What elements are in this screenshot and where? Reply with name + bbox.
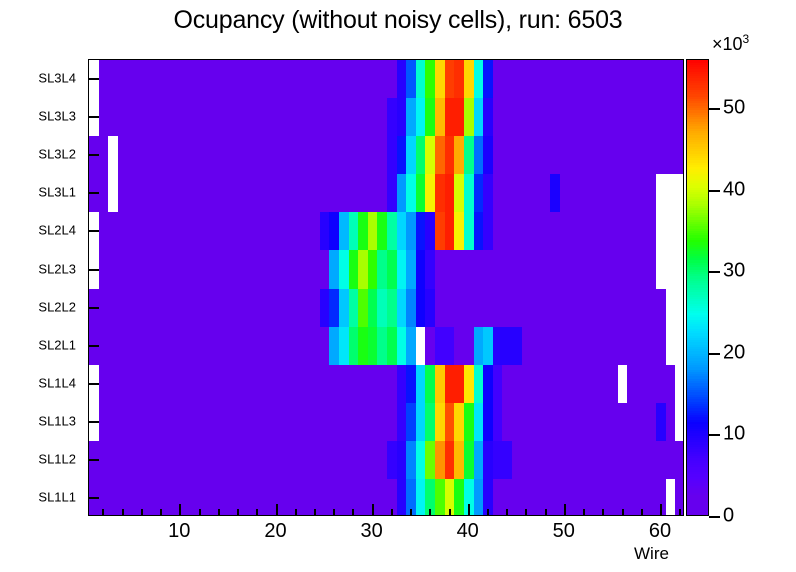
x-tick-label: 10 xyxy=(168,520,190,543)
colorbar-band xyxy=(687,162,708,165)
y-tick-label: SL2L4 xyxy=(38,223,76,238)
y-axis-tick xyxy=(88,497,99,499)
colorbar-band xyxy=(687,463,708,466)
colorbar-band xyxy=(687,121,708,124)
colorbar-band xyxy=(687,222,708,225)
colorbar-band xyxy=(687,456,708,459)
colorbar-band xyxy=(687,244,708,247)
colorbar-band xyxy=(687,256,708,259)
colorbar-band xyxy=(687,413,708,416)
colorbar-band xyxy=(687,499,708,502)
colorbar-band xyxy=(687,190,708,193)
colorbar-band xyxy=(687,78,708,81)
colorbar-band xyxy=(687,90,708,93)
x-axis-tick xyxy=(141,509,143,516)
x-axis-tick xyxy=(583,509,585,516)
colorbar-band xyxy=(687,308,708,311)
x-axis-tick xyxy=(468,504,470,516)
x-axis-tick xyxy=(602,509,604,516)
colorbar-band xyxy=(687,87,708,90)
colorbar-band xyxy=(687,115,708,118)
colorbar-tick xyxy=(709,190,720,192)
colorbar-band xyxy=(687,492,708,495)
colorbar-band xyxy=(687,140,708,143)
y-axis-tick xyxy=(88,78,99,80)
colorbar-band xyxy=(687,470,708,473)
y-axis-tick xyxy=(88,230,99,232)
colorbar-band xyxy=(687,103,708,106)
colorbar-band xyxy=(687,62,708,65)
colorbar-band xyxy=(687,333,708,336)
x-axis-tick xyxy=(391,509,393,516)
colorbar-band xyxy=(687,483,708,486)
colorbar-band xyxy=(687,203,708,206)
x-axis-tick xyxy=(525,509,527,516)
colorbar-band xyxy=(687,406,708,409)
y-axis-tick xyxy=(88,192,99,194)
colorbar-band xyxy=(687,394,708,397)
colorbar-band xyxy=(687,69,708,72)
colorbar-band xyxy=(687,144,708,147)
colorbar-band xyxy=(687,274,708,277)
colorbar-band xyxy=(687,265,708,268)
heatmap-cell xyxy=(675,441,684,480)
colorbar-band xyxy=(687,379,708,382)
colorbar-band xyxy=(687,67,708,70)
colorbar-band xyxy=(687,444,708,447)
x-axis-tick xyxy=(102,509,104,516)
colorbar-band xyxy=(687,347,708,350)
x-axis-tick xyxy=(199,509,201,516)
colorbar-band xyxy=(687,497,708,500)
colorbar-band xyxy=(687,426,708,429)
colorbar-band xyxy=(687,360,708,363)
colorbar-band xyxy=(687,365,708,368)
colorbar-band xyxy=(687,301,708,304)
colorbar-band xyxy=(687,397,708,400)
colorbar-band xyxy=(687,335,708,338)
x-tick-label: 20 xyxy=(264,520,286,543)
colorbar-band xyxy=(687,297,708,300)
colorbar-band xyxy=(687,269,708,272)
y-axis-tick xyxy=(88,154,99,156)
colorbar-band xyxy=(687,124,708,127)
x-axis-tick xyxy=(660,504,662,516)
colorbar-band xyxy=(687,233,708,236)
colorbar-tick xyxy=(709,108,720,110)
colorbar-band xyxy=(687,451,708,454)
colorbar-band xyxy=(687,208,708,211)
x-axis-tick xyxy=(237,509,239,516)
colorbar-band xyxy=(687,185,708,188)
colorbar-band xyxy=(687,133,708,136)
colorbar-band xyxy=(687,149,708,152)
y-axis-tick xyxy=(88,116,99,118)
colorbar-band xyxy=(687,479,708,482)
y-tick-label: SL3L2 xyxy=(38,147,76,162)
colorbar-band xyxy=(687,474,708,477)
x-axis-tick xyxy=(160,509,162,516)
colorbar-band xyxy=(687,171,708,174)
colorbar-band xyxy=(687,156,708,159)
colorbar-band xyxy=(687,392,708,395)
y-tick-label: SL3L3 xyxy=(38,109,76,124)
y-tick-label: SL2L2 xyxy=(38,299,76,314)
colorbar-band xyxy=(687,501,708,504)
y-axis-tick xyxy=(88,383,99,385)
colorbar-axis: 01020304050 xyxy=(709,59,789,516)
x-tick-label: 30 xyxy=(360,520,382,543)
y-tick-label: SL1L2 xyxy=(38,451,76,466)
x-axis-tick xyxy=(622,509,624,516)
y-tick-label: SL3L4 xyxy=(38,71,76,86)
x-axis-tick xyxy=(179,504,181,516)
colorbar-band xyxy=(687,319,708,322)
x-axis-tick xyxy=(429,509,431,516)
x-axis-tick xyxy=(679,509,681,516)
y-axis-tick xyxy=(88,459,99,461)
colorbar-band xyxy=(687,322,708,325)
colorbar-band xyxy=(687,128,708,131)
colorbar-band xyxy=(687,240,708,243)
x-axis-tick xyxy=(218,509,220,516)
colorbar-tick-label: 20 xyxy=(723,341,745,364)
colorbar-band xyxy=(687,504,708,507)
colorbar-band xyxy=(687,176,708,179)
colorbar-band xyxy=(687,404,708,407)
colorbar-band xyxy=(687,197,708,200)
colorbar-band xyxy=(687,192,708,195)
colorbar-band xyxy=(687,438,708,441)
colorbar-band xyxy=(687,85,708,88)
heatmap-cell xyxy=(675,212,684,251)
y-tick-label: SL1L3 xyxy=(38,413,76,428)
colorbar-band xyxy=(687,226,708,229)
colorbar-tick-label: 10 xyxy=(723,423,745,446)
colorbar-band xyxy=(687,490,708,493)
colorbar-band xyxy=(687,506,708,509)
colorbar-band xyxy=(687,253,708,256)
colorbar-band xyxy=(687,485,708,488)
heatmap-cell xyxy=(675,60,684,99)
colorbar-band xyxy=(687,80,708,83)
colorbar-tick-label: 30 xyxy=(723,260,745,283)
x-tick-label: 60 xyxy=(649,520,671,543)
colorbar-tick-label: 50 xyxy=(723,97,745,120)
colorbar-band xyxy=(687,408,708,411)
heatmap-cell xyxy=(675,174,684,213)
colorbar-band xyxy=(687,117,708,120)
colorbar-band xyxy=(687,76,708,79)
colorbar-band xyxy=(687,440,708,443)
colorbar-band xyxy=(687,449,708,452)
colorbar-band xyxy=(687,424,708,427)
colorbar-band xyxy=(687,472,708,475)
y-tick-label: SL2L3 xyxy=(38,261,76,276)
colorbar-band xyxy=(687,206,708,209)
colorbar-band xyxy=(687,242,708,245)
y-axis-tick xyxy=(88,345,99,347)
colorbar-band xyxy=(687,237,708,240)
heatmap-cell xyxy=(675,136,684,175)
colorbar-band xyxy=(687,435,708,438)
colorbar-band xyxy=(687,201,708,204)
colorbar-band xyxy=(687,251,708,254)
colorbar-band xyxy=(687,372,708,375)
colorbar-tick xyxy=(709,271,720,273)
colorbar-band xyxy=(687,267,708,270)
colorbar-band xyxy=(687,513,708,516)
colorbar-band xyxy=(687,460,708,463)
colorbar-band xyxy=(687,119,708,122)
colorbar-band xyxy=(687,94,708,97)
colorbar-band xyxy=(687,106,708,109)
colorbar-band xyxy=(687,306,708,309)
colorbar-band xyxy=(687,217,708,220)
colorbar-band xyxy=(687,142,708,145)
colorbar-band xyxy=(687,429,708,432)
colorbar-band xyxy=(687,215,708,218)
colorbar-band xyxy=(687,353,708,356)
colorbar-band xyxy=(687,465,708,468)
x-tick-label: 50 xyxy=(553,520,575,543)
colorbar-band xyxy=(687,376,708,379)
colorbar-band xyxy=(687,210,708,213)
colorbar-band xyxy=(687,283,708,286)
colorbar-band xyxy=(687,374,708,377)
colorbar-band xyxy=(687,281,708,284)
colorbar-band xyxy=(687,151,708,154)
colorbar-band xyxy=(687,199,708,202)
colorbar-band xyxy=(687,278,708,281)
colorbar-band xyxy=(687,112,708,115)
x-axis-tick xyxy=(295,509,297,516)
colorbar-band xyxy=(687,167,708,170)
colorbar-tick xyxy=(709,516,720,518)
colorbar-band xyxy=(687,194,708,197)
y-tick-label: SL1L4 xyxy=(38,375,76,390)
colorbar-band xyxy=(687,60,708,63)
heatmap-plot-area[interactable] xyxy=(88,59,684,516)
colorbar-band xyxy=(687,169,708,172)
colorbar-band xyxy=(687,351,708,354)
colorbar-band xyxy=(687,174,708,177)
colorbar-band xyxy=(687,326,708,329)
colorbar-band xyxy=(687,488,708,491)
colorbar-band xyxy=(687,288,708,291)
colorbar-band xyxy=(687,433,708,436)
colorbar-band xyxy=(687,344,708,347)
x-axis-tick xyxy=(314,509,316,516)
colorbar-band xyxy=(687,383,708,386)
colorbar-band xyxy=(687,101,708,104)
colorbar-band xyxy=(687,417,708,420)
colorbar-band xyxy=(687,219,708,222)
colorbar-band xyxy=(687,356,708,359)
x-axis-tick xyxy=(352,509,354,516)
colorbar-band xyxy=(687,294,708,297)
colorbar-band xyxy=(687,303,708,306)
colorbar-band xyxy=(687,249,708,252)
colorbar-band xyxy=(687,231,708,234)
colorbar-band xyxy=(687,187,708,190)
colorbar-band xyxy=(687,495,708,498)
colorbar-band xyxy=(687,160,708,163)
x-axis-tick xyxy=(545,509,547,516)
colorbar-band xyxy=(687,92,708,95)
colorbar-band xyxy=(687,65,708,68)
colorbar-band xyxy=(687,510,708,513)
colorbar-band xyxy=(687,247,708,250)
page-title: Ocupancy (without noisy cells), run: 650… xyxy=(0,6,796,35)
colorbar-band xyxy=(687,342,708,345)
colorbar-exponent-label: ×103 xyxy=(712,32,749,55)
colorbar-tick-label: 40 xyxy=(723,178,745,201)
colorbar-band xyxy=(687,74,708,77)
colorbar-band xyxy=(687,419,708,422)
colorbar-band xyxy=(687,228,708,231)
colorbar-band xyxy=(687,363,708,366)
colorbar-band xyxy=(687,212,708,215)
colorbar-band xyxy=(687,317,708,320)
colorbar-tick-label: 0 xyxy=(723,505,734,528)
colorbar-band xyxy=(687,260,708,263)
colorbar-band xyxy=(687,183,708,186)
heatmap-cell xyxy=(675,327,684,366)
colorbar-band xyxy=(687,290,708,293)
root-canvas: Ocupancy (without noisy cells), run: 650… xyxy=(0,0,796,572)
colorbar-band xyxy=(687,369,708,372)
heatmap-cell xyxy=(675,403,684,442)
colorbar-band xyxy=(687,285,708,288)
colorbar-band xyxy=(687,181,708,184)
colorbar-band xyxy=(687,422,708,425)
y-axis-tick xyxy=(88,307,99,309)
colorbar-band xyxy=(687,262,708,265)
x-axis-tick xyxy=(641,509,643,516)
colorbar-band xyxy=(687,126,708,129)
colorbar-band xyxy=(687,388,708,391)
colorbar-band xyxy=(687,385,708,388)
x-axis-tick xyxy=(276,504,278,516)
colorbar-band xyxy=(687,276,708,279)
colorbar-band xyxy=(687,299,708,302)
colorbar-band xyxy=(687,146,708,149)
colorbar-band xyxy=(687,135,708,138)
x-axis-title: Wire xyxy=(634,544,669,564)
colorbar-band xyxy=(687,258,708,261)
colorbar-band xyxy=(687,381,708,384)
x-axis-tick xyxy=(333,509,335,516)
x-tick-label: 40 xyxy=(457,520,479,543)
colorbar-band xyxy=(687,99,708,102)
y-tick-label: SL1L1 xyxy=(38,490,76,505)
colorbar-band xyxy=(687,458,708,461)
y-tick-label: SL3L1 xyxy=(38,185,76,200)
x-axis-tick xyxy=(487,509,489,516)
y-axis: SL3L4SL3L3SL3L2SL3L1SL2L4SL2L3SL2L2SL2L1… xyxy=(0,59,86,516)
colorbar-band xyxy=(687,315,708,318)
colorbar-band xyxy=(687,310,708,313)
colorbar-band xyxy=(687,358,708,361)
x-axis-tick xyxy=(372,504,374,516)
colorbar-band xyxy=(687,224,708,227)
colorbar-band xyxy=(687,96,708,99)
colorbar-band xyxy=(687,338,708,341)
x-axis-tick xyxy=(410,509,412,516)
colorbar-band xyxy=(687,476,708,479)
colorbar-band xyxy=(687,131,708,134)
colorbar-band xyxy=(687,235,708,238)
colorbar-band xyxy=(687,292,708,295)
colorbar-band xyxy=(687,313,708,316)
colorbar-band xyxy=(687,410,708,413)
colorbar-band xyxy=(687,481,708,484)
x-axis-tick xyxy=(506,509,508,516)
colorbar-band xyxy=(687,165,708,168)
colorbar-band xyxy=(687,399,708,402)
colorbar-band xyxy=(687,467,708,470)
colorbar[interactable] xyxy=(686,59,709,516)
colorbar-band xyxy=(687,272,708,275)
colorbar-band xyxy=(687,71,708,74)
heatmap-cell xyxy=(675,289,684,328)
colorbar-band xyxy=(687,328,708,331)
colorbar-band xyxy=(687,390,708,393)
colorbar-band xyxy=(687,508,708,511)
colorbar-tick xyxy=(709,434,720,436)
colorbar-band xyxy=(687,454,708,457)
colorbar-band xyxy=(687,447,708,450)
x-axis-tick xyxy=(449,509,451,516)
colorbar-band xyxy=(687,331,708,334)
colorbar-band xyxy=(687,108,708,111)
x-axis-tick xyxy=(564,504,566,516)
colorbar-band xyxy=(687,110,708,113)
heatmap-cell xyxy=(675,98,684,137)
colorbar-band xyxy=(687,83,708,86)
x-axis-tick xyxy=(122,509,124,516)
colorbar-band xyxy=(687,367,708,370)
colorbar-band xyxy=(687,431,708,434)
colorbar-band xyxy=(687,415,708,418)
colorbar-tick xyxy=(709,353,720,355)
colorbar-band xyxy=(687,442,708,445)
x-axis-tick xyxy=(256,509,258,516)
colorbar-band xyxy=(687,340,708,343)
colorbar-band xyxy=(687,178,708,181)
heatmap-cells xyxy=(89,60,683,515)
y-axis-tick xyxy=(88,421,99,423)
heatmap-cell xyxy=(675,250,684,289)
colorbar-band xyxy=(687,401,708,404)
colorbar-band xyxy=(687,153,708,156)
colorbar-band xyxy=(687,324,708,327)
colorbar-band xyxy=(687,137,708,140)
y-tick-label: SL2L1 xyxy=(38,337,76,352)
heatmap-cell xyxy=(675,365,684,404)
colorbar-band xyxy=(687,158,708,161)
y-axis-tick xyxy=(88,269,99,271)
colorbar-band xyxy=(687,349,708,352)
